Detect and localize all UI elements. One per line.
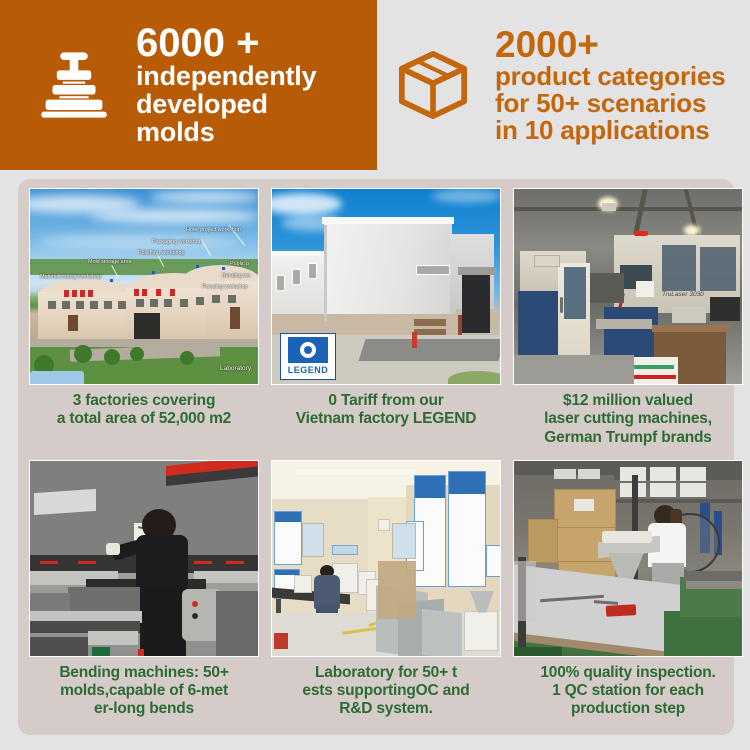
wall-chart <box>274 511 302 565</box>
card-quality-inspection: 100% quality inspection. 1 QC station fo… <box>510 460 746 732</box>
photo-label-packaging-workshop: Packaging workshop <box>152 239 202 245</box>
mold-icon <box>26 37 122 133</box>
header-left-molds: 6000 + independently developed molds <box>0 0 377 170</box>
header-right-categories: 2000+ product categories for 50+ scenari… <box>377 0 750 170</box>
photo-label-public: Public p <box>230 261 249 267</box>
header-right-text: 2000+ product categories for 50+ scenari… <box>481 26 725 143</box>
caption-line: $12 million valued <box>510 392 746 410</box>
caption-line: production step <box>510 700 746 718</box>
laser-cutting-machine-photo: TruLaser 3030 <box>513 188 743 385</box>
caption-line: 100% quality inspection. <box>510 664 746 682</box>
photo-label-material-cutting: Material cutting workshop <box>40 274 101 280</box>
categories-count: 2000+ <box>495 26 725 63</box>
caption-line: ests supportingOC and <box>268 682 504 700</box>
caption-line: R&D system. <box>268 700 504 718</box>
photo-label-mold-storage: Mold storage area <box>88 259 131 265</box>
caption-line: 0 Tariff from our <box>268 392 504 410</box>
caption-line: Vietnam factory LEGEND <box>268 410 504 428</box>
machine-model-label: TruLaser 3030 <box>662 291 704 298</box>
caption-line: molds,capable of 6-met <box>26 682 262 700</box>
categories-line-1: product categories <box>495 63 725 90</box>
photo-label-bending: Bending wo <box>222 273 250 279</box>
molds-line-2: developed <box>136 91 316 119</box>
card-caption: 100% quality inspection. 1 QC station fo… <box>510 664 746 719</box>
card-bending-machine: Bending machines: 50+ molds,capable of 6… <box>26 460 262 732</box>
caption-line: er-long bends <box>26 700 262 718</box>
cards-panel: Hotel project workshop Packaging worksho… <box>18 179 734 735</box>
card-laser-cutting: TruLaser 3030 $12 million valued laser c… <box>510 188 746 460</box>
photo-label-laboratory: Laboratory <box>220 365 251 372</box>
package-box-icon <box>385 37 481 133</box>
vietnam-factory-photo: LEGEND <box>271 188 501 385</box>
header-banner: 6000 + independently developed molds <box>0 0 750 170</box>
caption-line: 3 factories covering <box>26 392 262 410</box>
caption-line: Bending machines: 50+ <box>26 664 262 682</box>
card-laboratory: Laboratory for 50+ t ests supportingOC a… <box>268 460 504 732</box>
laboratory-photo <box>271 460 501 657</box>
card-caption: 0 Tariff from our Vietnam factory LEGEND <box>268 392 504 429</box>
card-aerial-factory: Hotel project workshop Packaging worksho… <box>26 188 262 460</box>
caption-line: 1 QC station for each <box>510 682 746 700</box>
caption-line: a total area of 52,000 m2 <box>26 410 262 428</box>
molds-count: 6000 + <box>136 23 316 63</box>
cards-grid: Hotel project workshop Packaging worksho… <box>18 179 734 735</box>
categories-line-2: for 50+ scenarios <box>495 90 725 117</box>
card-caption: Laboratory for 50+ t ests supportingOC a… <box>268 664 504 719</box>
card-caption: 3 factories covering a total area of 52,… <box>26 392 262 429</box>
card-caption: $12 million valued laser cutting machine… <box>510 392 746 447</box>
legend-logo-mark <box>288 337 328 363</box>
bending-machine-photo <box>29 460 259 657</box>
caption-line: Laboratory for 50+ t <box>268 664 504 682</box>
card-caption: Bending machines: 50+ molds,capable of 6… <box>26 664 262 719</box>
caption-line: German Trumpf brands <box>510 429 746 447</box>
photo-label-polishing-workshop: Polishing workshop <box>138 250 184 256</box>
molds-line-1: independently <box>136 63 316 91</box>
molds-line-3: molds <box>136 119 316 147</box>
infographic-poster: 6000 + independently developed molds <box>0 0 750 750</box>
quality-inspection-photo <box>513 460 743 657</box>
photo-label-hotel-workshop: Hotel project workshop <box>186 227 241 233</box>
legend-logo: LEGEND <box>280 333 336 380</box>
header-left-text: 6000 + independently developed molds <box>122 23 316 146</box>
legend-logo-text: LEGEND <box>288 365 329 375</box>
photo-label-pressing-workshop: Pressing workshop <box>202 284 248 290</box>
card-vietnam-factory: LEGEND 0 Tariff from our Vietnam factory… <box>268 188 504 460</box>
caption-line: laser cutting machines, <box>510 410 746 428</box>
categories-line-3: in 10 applications <box>495 117 725 144</box>
aerial-factory-photo: Hotel project workshop Packaging worksho… <box>29 188 259 385</box>
